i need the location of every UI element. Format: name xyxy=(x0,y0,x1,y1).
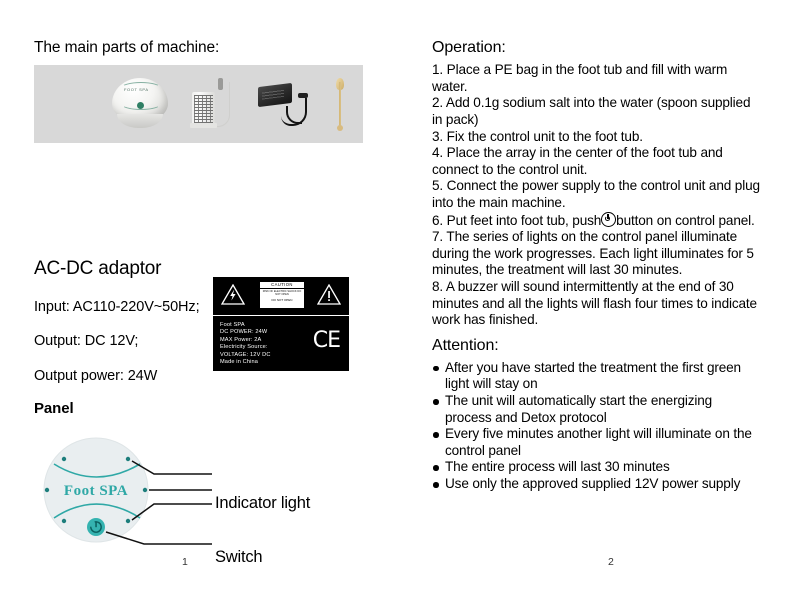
attention-items-list: After you have started the treatment the… xyxy=(432,360,762,493)
attention-heading: Attention: xyxy=(432,336,762,355)
panel-block: Panel Foot SPA I xyxy=(34,400,384,560)
control-unit-brand-text: FOOT SPA xyxy=(124,87,149,92)
array-electrode-grid xyxy=(194,95,213,123)
spoon-handle xyxy=(339,82,341,128)
attention-item-5: Use only the approved supplied 12V power… xyxy=(432,476,762,493)
rating-label-warning-row: CAUTION RISK OF ELECTRIC SHOCK DO NOT OP… xyxy=(213,277,349,316)
indicator-dot-1 xyxy=(62,457,66,461)
callout-indicator-light: Indicator light xyxy=(215,494,310,513)
indicator-dot-4 xyxy=(143,488,147,492)
page-number-left: 1 xyxy=(182,556,188,568)
spoon-end-knob xyxy=(337,125,343,131)
operation-step-3: 3. Fix the control unit to the foot tub. xyxy=(432,129,762,146)
panel-diagram: Foot SPA Indicator light Switch xyxy=(34,428,384,553)
caution-warning-box: CAUTION RISK OF ELECTRIC SHOCK DO NOT OP… xyxy=(260,282,304,308)
right-column: Operation: 1. Place a PE bag in the foot… xyxy=(432,38,762,493)
parts-heading: The main parts of machine: xyxy=(34,38,384,57)
rating-line-origin: Made in China xyxy=(220,359,349,366)
left-column: The main parts of machine: FOOT SPA xyxy=(34,38,384,143)
operation-step-6-text-a: 6. Put feet into foot tub, push xyxy=(432,213,601,228)
control-unit-base xyxy=(117,114,163,128)
indicator-dot-3 xyxy=(45,488,49,492)
ce-mark-icon: CE xyxy=(313,330,340,352)
operation-step-5: 5. Connect the power supply to the contr… xyxy=(432,178,762,211)
general-warning-icon xyxy=(317,284,341,305)
operation-step-6: 6. Put feet into foot tub, pushbutton on… xyxy=(432,212,762,230)
array-foot xyxy=(190,123,217,128)
indicator-dot-2 xyxy=(126,457,130,461)
indicator-dot-6 xyxy=(126,519,130,523)
operation-heading: Operation: xyxy=(432,38,762,57)
operation-step-8: 8. A buzzer will sound intermittently at… xyxy=(432,279,762,329)
operation-step-7: 7. The series of lights on the control p… xyxy=(432,229,762,279)
operation-step-6-text-b: button on control panel. xyxy=(616,213,754,228)
adaptor-connector-tip xyxy=(298,93,308,98)
indicator-dot-5 xyxy=(62,519,66,523)
parts-photo-strip: FOOT SPA xyxy=(34,65,363,143)
attention-item-2: The unit will automatically start the en… xyxy=(432,393,762,426)
photo-array xyxy=(190,76,236,132)
caution-body: RISK OF ELECTRIC SHOCK DO NOT OPEN xyxy=(260,289,304,297)
operation-step-1: 1. Place a PE bag in the foot tub and fi… xyxy=(432,62,762,95)
panel-brand-text: Foot SPA xyxy=(64,483,128,499)
parts-photo-items: FOOT SPA xyxy=(34,65,363,143)
photo-control-unit: FOOT SPA xyxy=(112,76,168,132)
photo-measuring-spoon xyxy=(332,76,348,132)
array-plug xyxy=(218,78,223,90)
callout-switch: Switch xyxy=(215,548,262,567)
attention-item-3: Every five minutes another light will il… xyxy=(432,426,762,459)
operation-steps-list: 1. Place a PE bag in the foot tub and fi… xyxy=(432,62,762,329)
page-number-right: 2 xyxy=(608,556,614,568)
electric-shock-hazard-icon xyxy=(221,284,245,305)
attention-item-1: After you have started the treatment the… xyxy=(432,360,762,393)
power-icon-bar xyxy=(95,522,97,528)
caution-subtext: DO NOT OPEN xyxy=(260,298,304,303)
panel-heading: Panel xyxy=(34,400,384,417)
rating-label: CAUTION RISK OF ELECTRIC SHOCK DO NOT OP… xyxy=(213,277,349,371)
caution-title: CAUTION xyxy=(260,282,304,289)
photo-ac-dc-adaptor xyxy=(258,76,310,132)
rating-label-spec-row: Foot SPA DC POWER: 24W MAX Power: 2A Ele… xyxy=(213,316,349,371)
attention-item-4: The entire process will last 30 minutes xyxy=(432,459,762,476)
power-button-icon xyxy=(601,212,616,227)
operation-step-4: 4. Place the array in the center of the … xyxy=(432,145,762,178)
operation-step-2: 2. Add 0.1g sodium salt into the water (… xyxy=(432,95,762,128)
